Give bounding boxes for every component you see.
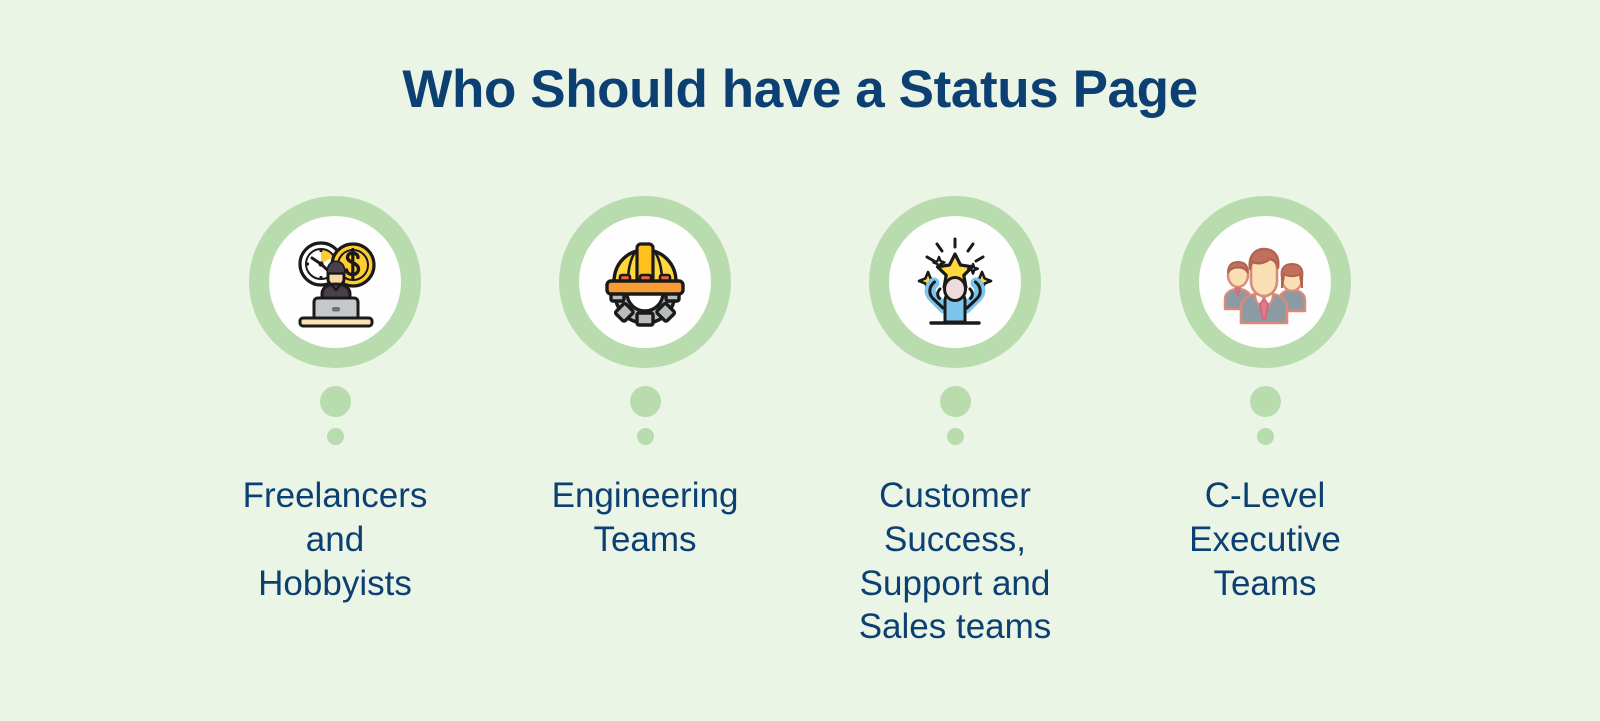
badge-inner-c-level [1199,216,1331,348]
column-engineering: Engineering Teams [490,196,800,562]
connector-dot-large-engineering [630,386,661,417]
connector-dot-small-freelancers [327,428,344,445]
badge-ring-customer-success [869,196,1041,368]
infographic-root: Who Should have a Status Page [0,0,1600,721]
connector-dot-large-c-level [1250,386,1281,417]
column-freelancers: Freelancers and Hobbyists [180,196,490,605]
badge-ring-c-level [1179,196,1351,368]
column-c-level: C-Level Executive Teams [1110,196,1420,605]
connector-dot-small-customer-success [947,428,964,445]
badge-ring-freelancers [249,196,421,368]
column-customer-success: Customer Success, Support and Sales team… [800,196,1110,649]
badge-inner-customer-success [889,216,1021,348]
business-team-icon [1214,231,1316,333]
column-list: Freelancers and Hobbyists [0,196,1600,649]
badge-inner-freelancers [269,216,401,348]
column-label-freelancers: Freelancers and Hobbyists [243,474,428,605]
column-label-customer-success: Customer Success, Support and Sales team… [859,474,1052,649]
column-label-engineering: Engineering Teams [552,474,739,562]
connector-dot-small-c-level [1257,428,1274,445]
badge-inner-engineering [579,216,711,348]
freelancer-clock-money-icon [281,228,389,336]
badge-ring-engineering [559,196,731,368]
celebrating-person-star-icon [903,230,1007,334]
connector-dot-large-freelancers [320,386,351,417]
connector-dot-large-customer-success [940,386,971,417]
hardhat-gear-icon [593,230,697,334]
connector-dot-small-engineering [637,428,654,445]
page-title: Who Should have a Status Page [0,58,1600,122]
column-label-c-level: C-Level Executive Teams [1189,474,1341,605]
